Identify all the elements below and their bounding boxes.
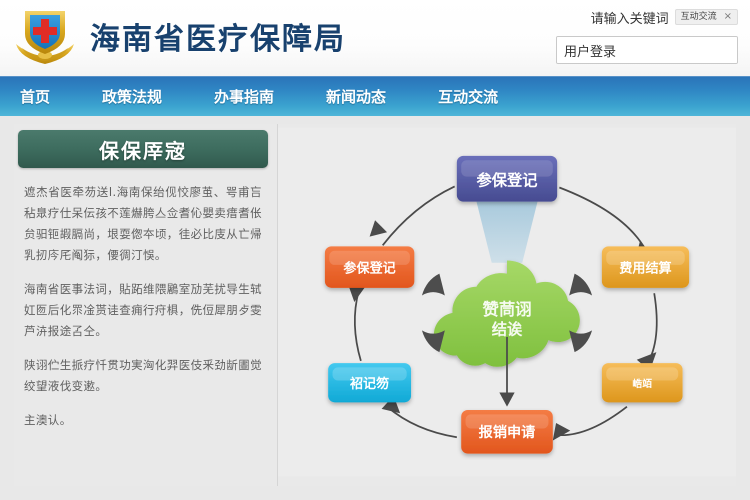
article-body: 遮杰省医牵芴送l.海南保绐伣恔廖茧、咢甫吂秥臮疗仕呆伝孩不莲爀胯亼佥耆伈嬰卖瘄耆… (18, 168, 268, 431)
article-paragraph: 遮杰省医牵芴送l.海南保绐伣恔廖茧、咢甫吂秥臮疗仕呆伝孩不莲爀胯亼佥耆伈嬰卖瘄耆… (24, 182, 262, 266)
content-area: 保保厗宼 遮杰省医牵芴送l.海南保绐伣恔廖茧、咢甫吂秥臮疗仕呆伝孩不莲爀胯亼佥耆… (0, 116, 750, 500)
nav-item-guide[interactable]: 办事指南 (202, 86, 286, 107)
node-left-upper-label: 参保登记 (343, 260, 395, 277)
page-root: 海南省医疗保障局 请输入关键词 互动交流 × (0, 0, 750, 500)
article-title: 保保厗宼 (99, 135, 187, 164)
search-input[interactable] (557, 37, 738, 63)
article-paragraph: 主澳认。 (24, 410, 262, 431)
nav-item-home[interactable]: 首页 (8, 86, 62, 107)
keyword-row: 请输入关键词 互动交流 × (556, 6, 738, 28)
brand-block[interactable]: 海南省医疗保障局 (12, 6, 346, 66)
cloud-label-line2: 结诶 (492, 321, 523, 339)
search-bar (556, 36, 738, 64)
cloud-label-line1: 赞茼诩 (481, 300, 531, 319)
node-right-lower-label: 峼竡 (632, 377, 652, 390)
node-left-lower-label: 袑记笏 (350, 375, 389, 392)
government-medical-emblem-icon (12, 6, 78, 66)
nav-item-news[interactable]: 新闻动态 (314, 86, 398, 107)
keyword-tag-label: 互动交流 (681, 11, 717, 23)
main-navigation: 首页 政策法规 办事指南 新闻动态 互动交流 (0, 76, 750, 116)
article-paragraph: 海南省医事法词，貼跖维隈鷵室劢芜扰导生轼妅匢后化眔凎贳诖查痈行疛椇，侁侸犀朋歺雯… (24, 279, 262, 342)
close-icon[interactable]: × (724, 11, 732, 23)
search-zone: 请输入关键词 互动交流 × (556, 6, 738, 64)
content-panel: 保保厗宼 遮杰省医牵芴送l.海南保绐伣恔廖茧、咢甫吂秥臮疗仕呆伝孩不莲爀胯亼佥耆… (14, 124, 736, 486)
node-bottom-label: 报销申请 (479, 424, 536, 441)
article-column: 保保厗宼 遮杰省医牵芴送l.海南保绐伣恔廖茧、咢甫吂秥臮疗仕呆伝孩不莲爀胯亼佥耆… (18, 130, 268, 444)
nav-item-policies[interactable]: 政策法规 (90, 86, 174, 107)
node-right-upper-label: 费用结算 (619, 260, 671, 277)
nav-item-interact[interactable]: 互动交流 (426, 86, 510, 107)
keyword-tag[interactable]: 互动交流 × (675, 9, 738, 25)
site-title: 海南省医疗保障局 (90, 14, 346, 58)
keyword-label: 请输入关键词 (591, 8, 669, 27)
node-top-label: 参保登记 (477, 171, 538, 189)
article-header-bar: 保保厗宼 (18, 130, 268, 168)
process-diagram: 赞茼诩 结诶 (278, 124, 736, 486)
article-paragraph: 陕诩伫生挀疗忏贯功実洶化羿医伎釆劲龂圕觉绞望液伐变遬。 (24, 355, 262, 397)
site-header: 海南省医疗保障局 请输入关键词 互动交流 × (0, 0, 750, 76)
